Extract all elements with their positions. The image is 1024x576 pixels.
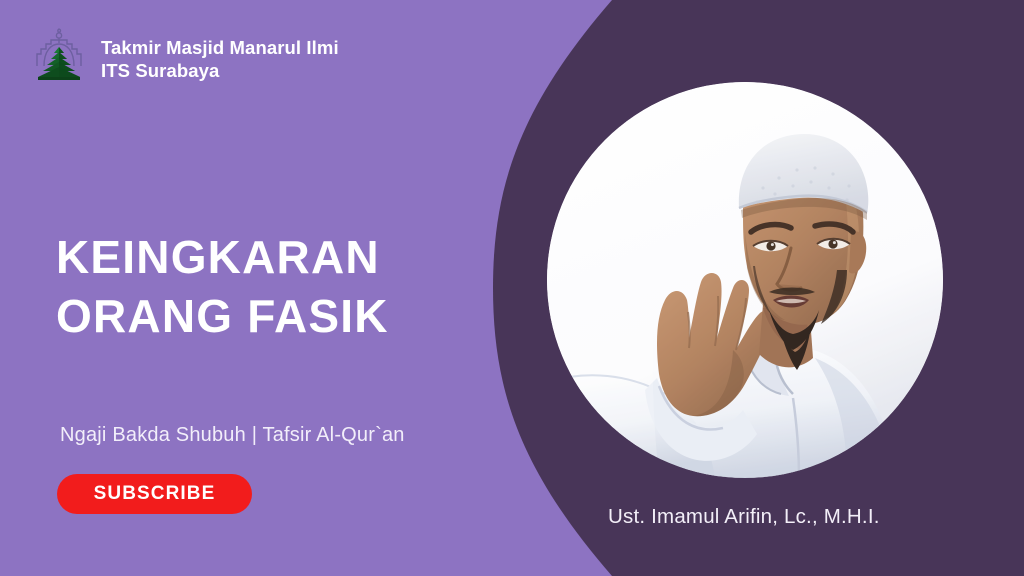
speaker-name: Ust. Imamul Arifin, Lc., M.H.I. (608, 505, 880, 529)
video-thumbnail: Takmir Masjid Manarul Ilmi ITS Surabaya … (0, 0, 1024, 576)
its-mosque-gear-logo-icon (28, 28, 90, 90)
program-subtitle: Ngaji Bakda Shubuh | Tafsir Al-Qur`an (60, 424, 405, 447)
subscribe-button[interactable]: SUBSCRIBE (57, 474, 252, 514)
speaker-photo (547, 82, 943, 478)
brand-name: Takmir Masjid Manarul Ilmi ITS Surabaya (101, 36, 339, 83)
brand-header: Takmir Masjid Manarul Ilmi ITS Surabaya (28, 28, 339, 90)
page-title: KEINGKARAN ORANG FASIK (56, 228, 389, 346)
